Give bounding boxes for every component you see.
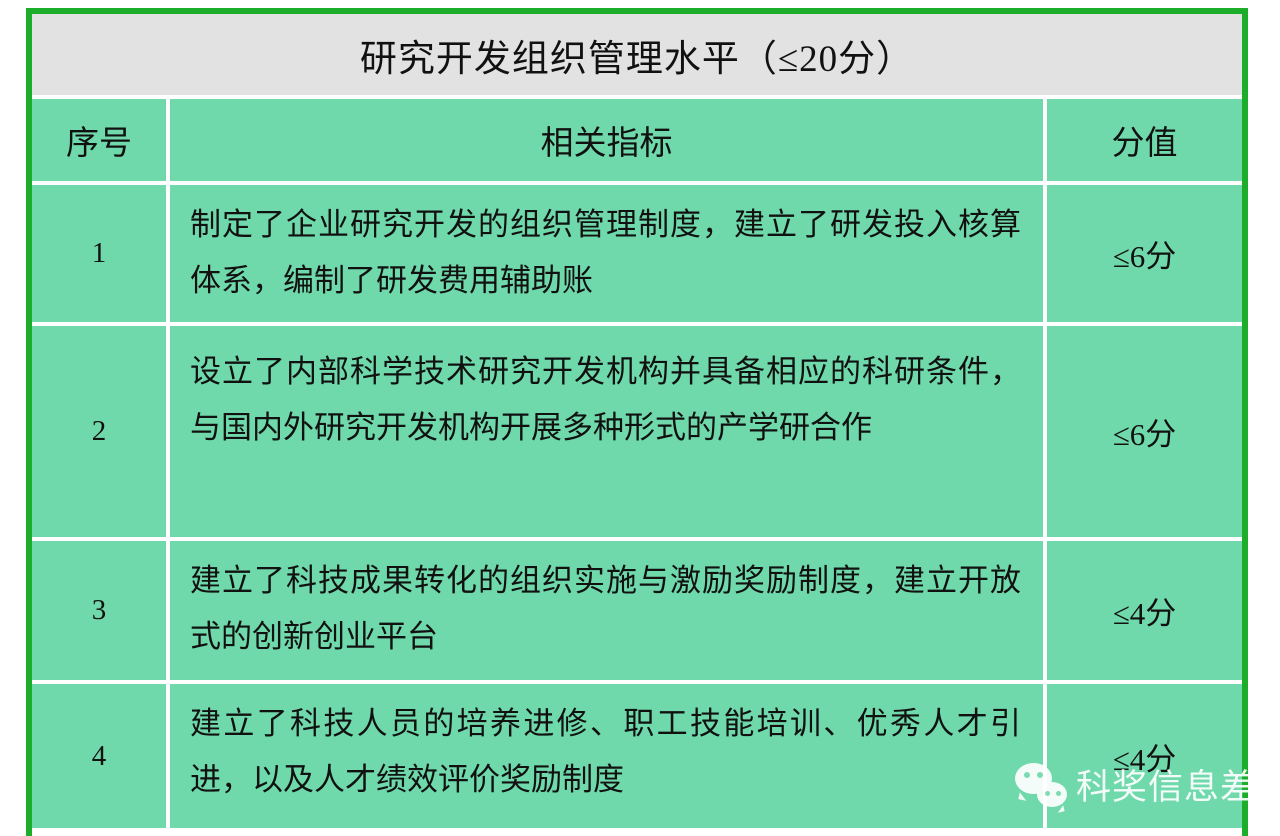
table-header-row: 序号 相关指标 分值 xyxy=(32,99,1242,185)
row-index-cell: 3 xyxy=(32,541,170,680)
row-indicator-text: 建立了科技成果转化的组织实施与激励奖励制度，建立开放式的创新创业平台 xyxy=(190,553,1021,665)
row-indicator-text: 制定了企业研究开发的组织管理制度，建立了研发投入核算体系，编制了研发费用辅助账 xyxy=(190,197,1021,309)
row-indicator-cell: 设立了内部科学技术研究开发机构并具备相应的科研条件，与国内外研究开发机构开展多种… xyxy=(170,326,1047,537)
table-title-band: 研究开发组织管理水平（≤20分） xyxy=(32,14,1242,99)
row-indicator-cell: 制定了企业研究开发的组织管理制度，建立了研发投入核算体系，编制了研发费用辅助账 xyxy=(170,185,1047,322)
column-header-indicator: 相关指标 xyxy=(170,99,1047,181)
row-index-cell: 2 xyxy=(32,326,170,537)
scoring-table: 研究开发组织管理水平（≤20分） 序号 相关指标 分值 1 制定了企业研究开发的… xyxy=(26,8,1248,836)
row-score-cell: ≤4分 xyxy=(1047,684,1242,828)
row-score-cell: ≤6分 xyxy=(1047,326,1242,537)
row-indicator-text: 建立了科技人员的培养进修、职工技能培训、优秀人才引进，以及人才绩效评价奖励制度 xyxy=(190,696,1021,808)
row-indicator-cell: 建立了科技成果转化的组织实施与激励奖励制度，建立开放式的创新创业平台 xyxy=(170,541,1047,680)
row-indicator-text: 设立了内部科学技术研究开发机构并具备相应的科研条件，与国内外研究开发机构开展多种… xyxy=(190,344,1021,456)
row-score-cell: ≤6分 xyxy=(1047,185,1242,322)
column-header-score: 分值 xyxy=(1047,99,1242,181)
table-row: 3 建立了科技成果转化的组织实施与激励奖励制度，建立开放式的创新创业平台 ≤4分 xyxy=(32,541,1242,684)
table-row: 1 制定了企业研究开发的组织管理制度，建立了研发投入核算体系，编制了研发费用辅助… xyxy=(32,185,1242,326)
row-score-cell: ≤4分 xyxy=(1047,541,1242,680)
table-row: 4 建立了科技人员的培养进修、职工技能培训、优秀人才引进，以及人才绩效评价奖励制… xyxy=(32,684,1242,828)
column-header-index: 序号 xyxy=(32,99,170,181)
page-root: 研究开发组织管理水平（≤20分） 序号 相关指标 分值 1 制定了企业研究开发的… xyxy=(0,0,1280,836)
row-index-cell: 4 xyxy=(32,684,170,828)
table-grid: 序号 相关指标 分值 1 制定了企业研究开发的组织管理制度，建立了研发投入核算体… xyxy=(32,99,1242,828)
row-indicator-cell: 建立了科技人员的培养进修、职工技能培训、优秀人才引进，以及人才绩效评价奖励制度 xyxy=(170,684,1047,828)
row-index-cell: 1 xyxy=(32,185,170,322)
page-title: 研究开发组织管理水平（≤20分） xyxy=(360,28,914,82)
table-row: 2 设立了内部科学技术研究开发机构并具备相应的科研条件，与国内外研究开发机构开展… xyxy=(32,326,1242,541)
